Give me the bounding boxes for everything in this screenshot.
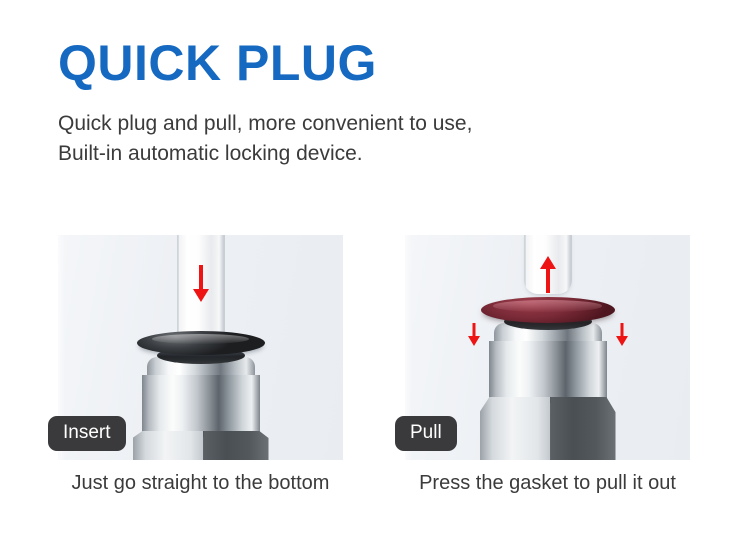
caption-pull: Press the gasket to pull it out (405, 472, 690, 495)
subtitle-line-2: Built-in automatic locking device. (58, 139, 472, 169)
release-gasket-red (481, 297, 615, 323)
panel-captions: Just go straight to the bottom Press the… (58, 472, 690, 495)
badge-insert: Insert (48, 416, 126, 451)
arrow-down-icon-left (468, 323, 480, 349)
arrow-down-icon-right (616, 323, 628, 349)
arrow-head (193, 289, 209, 302)
arrow-down-icon (193, 265, 209, 305)
release-collar-black (137, 331, 265, 355)
connector-barrel (142, 375, 260, 437)
arrow-head (540, 256, 556, 269)
caption-insert: Just go straight to the bottom (58, 472, 343, 495)
connector-barrel (489, 341, 607, 403)
push-fit-connector-insert (101, 235, 301, 460)
hex-nut (133, 431, 269, 460)
arrow-up-icon (540, 253, 556, 293)
push-fit-connector-pull (448, 235, 648, 460)
arrow-head (468, 336, 480, 346)
hex-facet-dark (550, 397, 615, 460)
arrow-shaft (546, 267, 550, 293)
hex-facet-dark (203, 431, 268, 460)
subtitle-line-1: Quick plug and pull, more convenient to … (58, 109, 472, 139)
hex-seam (203, 431, 204, 460)
hex-nut (480, 397, 616, 460)
panel-pull: Pull (405, 235, 690, 460)
hex-facet-light (480, 397, 551, 460)
hex-seam (550, 397, 551, 460)
illustration-panels: Insert (58, 235, 690, 460)
arrow-head (616, 336, 628, 346)
page-title: QUICK PLUG (58, 38, 472, 88)
arrow-shaft (199, 265, 203, 291)
badge-pull: Pull (395, 416, 457, 451)
hex-facet-light (133, 431, 204, 460)
page-subtitle: Quick plug and pull, more convenient to … (58, 109, 472, 169)
header: QUICK PLUG Quick plug and pull, more con… (58, 38, 472, 169)
panel-insert: Insert (58, 235, 343, 460)
